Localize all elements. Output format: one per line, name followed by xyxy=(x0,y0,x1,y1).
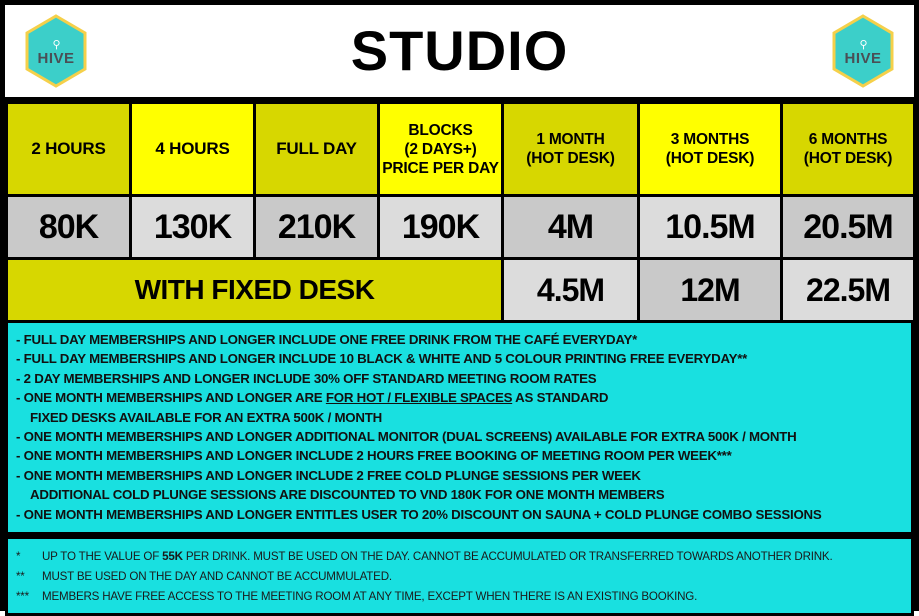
header-line-3: PRICE PER DAY xyxy=(380,159,501,178)
note-line: - ONE MONTH MEMBERSHIPS AND LONGER ADDIT… xyxy=(16,427,903,446)
price-cell-full-day: 210K xyxy=(255,196,379,259)
title-band: ⚲ HIVE STUDIO ⚲ HIVE xyxy=(5,5,914,101)
column-header-full-day: FULL DAY xyxy=(255,103,379,196)
price-cell-blocks: 190K xyxy=(379,196,503,259)
note-line: FIXED DESKS AVAILABLE FOR AN EXTRA 500K … xyxy=(16,408,903,427)
column-header-4-hours: 4 HOURS xyxy=(131,103,255,196)
note-line: - FULL DAY MEMBERSHIPS AND LONGER INCLUD… xyxy=(16,330,903,349)
footnote-row: *UP TO THE VALUE OF 55K PER DRINK. MUST … xyxy=(16,547,903,567)
fixed-desk-label: WITH FIXED DESK xyxy=(7,259,503,322)
fixed-desk-price-1-month: 4.5M xyxy=(503,259,639,322)
column-header-3-months: 3 MONTHS (HOT DESK) xyxy=(639,103,782,196)
table-fixed-desk-row: WITH FIXED DESK 4.5M 12M 22.5M xyxy=(7,259,915,322)
header-line-1: FULL DAY xyxy=(256,139,377,159)
pricing-sheet: ⚲ HIVE STUDIO ⚲ HIVE xyxy=(0,0,919,611)
price-cell-2-hours: 80K xyxy=(7,196,131,259)
hive-logo-right: ⚲ HIVE xyxy=(830,14,896,88)
header-line-1: 2 HOURS xyxy=(8,139,129,159)
header-line-1: 1 MONTH xyxy=(504,130,637,149)
price-cell-1-month: 4M xyxy=(503,196,639,259)
note-line: - ONE MONTH MEMBERSHIPS AND LONGER ENTIT… xyxy=(16,505,903,524)
footnote-marker: *** xyxy=(16,587,42,607)
pricing-table: 2 HOURS 4 HOURS FULL DAY BLOCKS (2 DAYS+… xyxy=(5,101,916,323)
note-line: ADDITIONAL COLD PLUNGE SESSIONS ARE DISC… xyxy=(16,485,903,504)
header-line-2: (HOT DESK) xyxy=(504,149,637,168)
note-line: - FULL DAY MEMBERSHIPS AND LONGER INCLUD… xyxy=(16,349,903,368)
header-line-2: (2 DAYS+) xyxy=(380,140,501,159)
hive-logo-text: HIVE xyxy=(844,51,881,67)
hexagon-shape: ⚲ HIVE xyxy=(23,14,89,88)
header-line-1: 6 MONTHS xyxy=(783,130,913,149)
fixed-desk-price-6-months: 22.5M xyxy=(782,259,915,322)
footnote-row: **MUST BE USED ON THE DAY AND CANNOT BE … xyxy=(16,567,903,587)
footnote-row: ***MEMBERS HAVE FREE ACCESS TO THE MEETI… xyxy=(16,587,903,607)
fixed-desk-price-3-months: 12M xyxy=(639,259,782,322)
footnote-emphasis: 55K xyxy=(162,550,183,563)
header-line-2: (HOT DESK) xyxy=(640,149,780,168)
header-line-1: 4 HOURS xyxy=(132,139,253,159)
price-cell-4-hours: 130K xyxy=(131,196,255,259)
note-line: - 2 DAY MEMBERSHIPS AND LONGER INCLUDE 3… xyxy=(16,369,903,388)
hive-logo-text: HIVE xyxy=(37,51,74,67)
header-line-1: BLOCKS xyxy=(380,121,501,140)
footnote-marker: * xyxy=(16,547,42,567)
footnotes-panel: *UP TO THE VALUE OF 55K PER DRINK. MUST … xyxy=(5,535,914,616)
hive-logo-left: ⚲ HIVE xyxy=(23,14,89,88)
table-header-row: 2 HOURS 4 HOURS FULL DAY BLOCKS (2 DAYS+… xyxy=(7,103,915,196)
footnote-marker: ** xyxy=(16,567,42,587)
page-title: STUDIO xyxy=(351,23,569,79)
note-line: - ONE MONTH MEMBERSHIPS AND LONGER INCLU… xyxy=(16,446,903,465)
note-line-underlined: - ONE MONTH MEMBERSHIPS AND LONGER ARE F… xyxy=(16,388,903,407)
column-header-2-hours: 2 HOURS xyxy=(7,103,131,196)
header-line-1: 3 MONTHS xyxy=(640,130,780,149)
price-cell-6-months: 20.5M xyxy=(782,196,915,259)
bee-icon: ⚲ xyxy=(52,40,59,50)
benefits-notes-panel: - FULL DAY MEMBERSHIPS AND LONGER INCLUD… xyxy=(5,323,914,535)
underlined-phrase: FOR HOT / FLEXIBLE SPACES xyxy=(326,390,512,405)
note-line: - ONE MONTH MEMBERSHIPS AND LONGER INCLU… xyxy=(16,466,903,485)
column-header-blocks: BLOCKS (2 DAYS+) PRICE PER DAY xyxy=(379,103,503,196)
hexagon-shape: ⚲ HIVE xyxy=(830,14,896,88)
bee-icon: ⚲ xyxy=(859,40,866,50)
column-header-1-month: 1 MONTH (HOT DESK) xyxy=(503,103,639,196)
table-price-row: 80K 130K 210K 190K 4M 10.5M 20.5M xyxy=(7,196,915,259)
header-line-2: (HOT DESK) xyxy=(783,149,913,168)
column-header-6-months: 6 MONTHS (HOT DESK) xyxy=(782,103,915,196)
price-cell-3-months: 10.5M xyxy=(639,196,782,259)
